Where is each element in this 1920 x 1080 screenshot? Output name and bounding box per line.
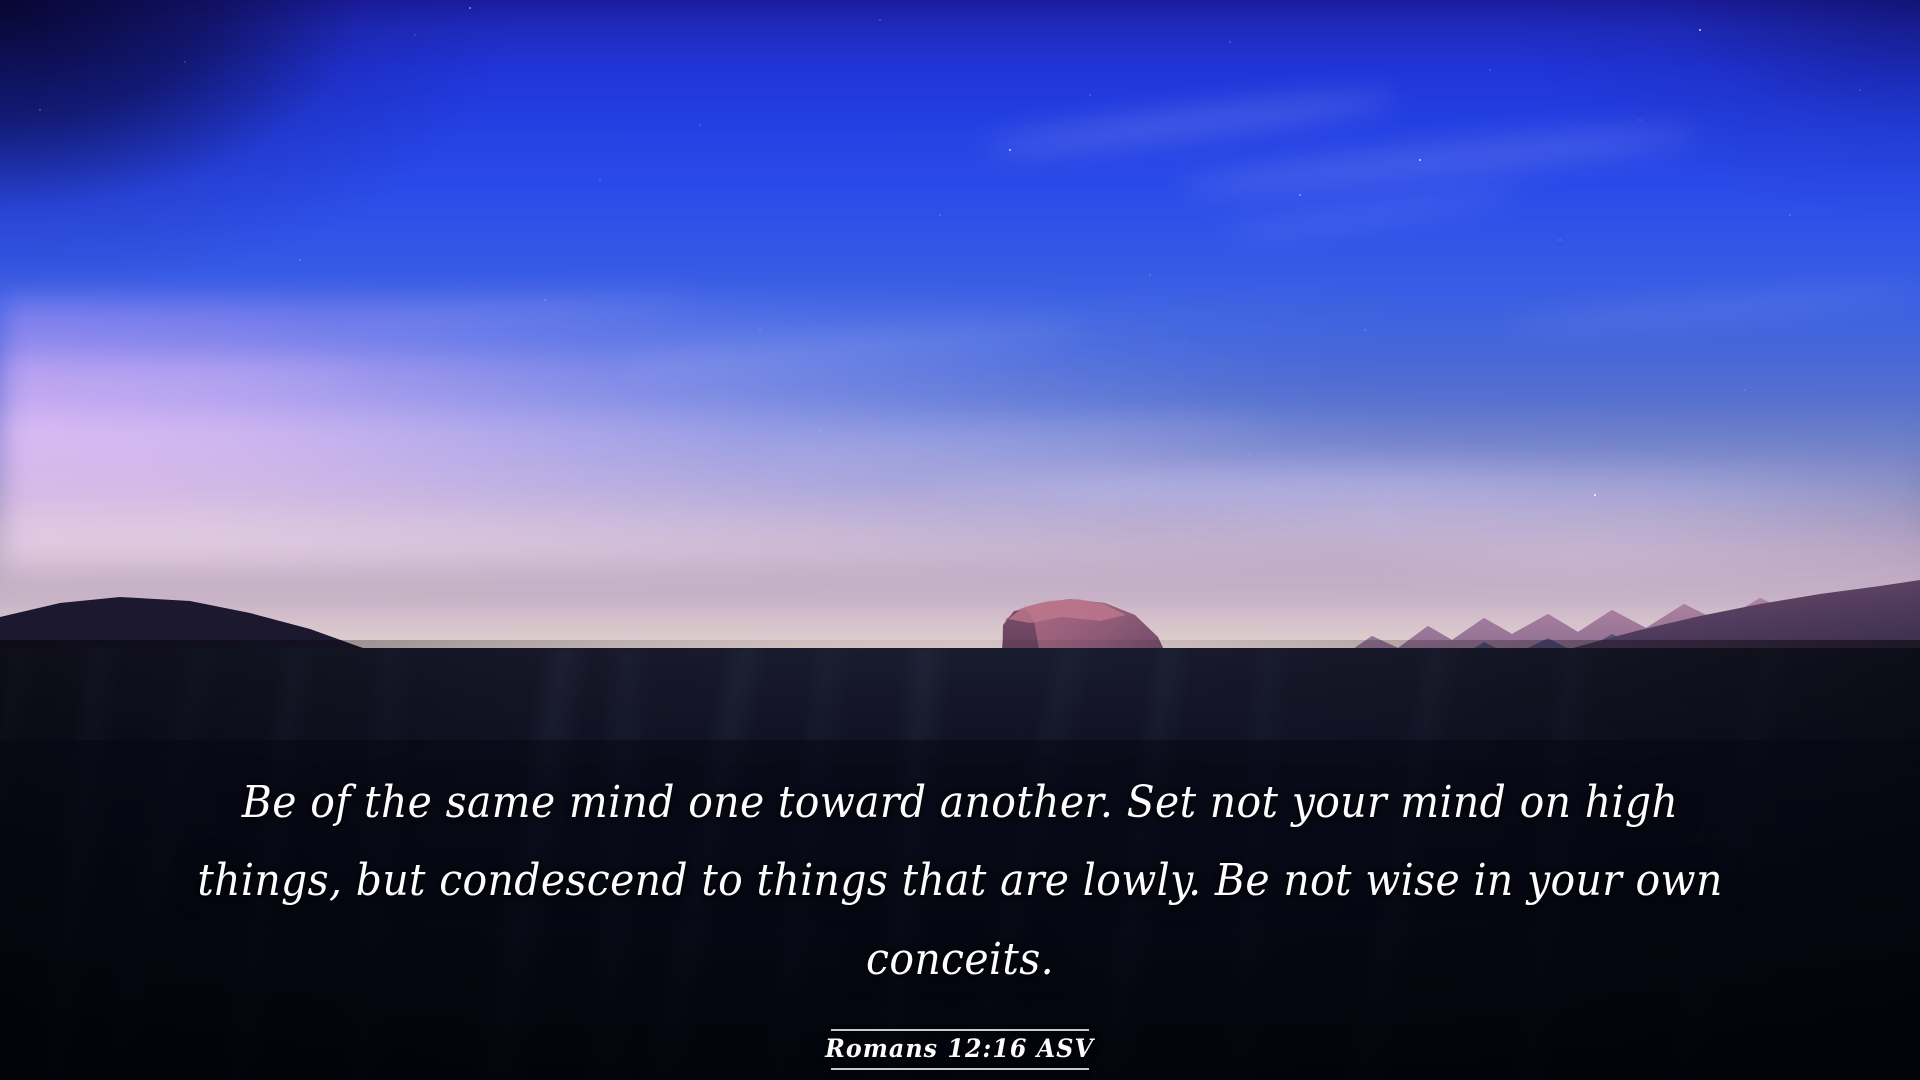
citation-text: Romans 12:16 ASV	[820, 1031, 1100, 1068]
verse-overlay: Be of the same mind one toward another. …	[0, 740, 1920, 1080]
wallpaper-canvas: Be of the same mind one toward another. …	[0, 0, 1920, 1080]
citation-rule-bottom	[831, 1068, 1089, 1070]
verse-line-2: things that are lowly. Be not wise in yo…	[757, 855, 1723, 984]
citation-block: Romans 12:16 ASV	[812, 1029, 1107, 1070]
verse-text: Be of the same mind one toward another. …	[170, 764, 1751, 999]
